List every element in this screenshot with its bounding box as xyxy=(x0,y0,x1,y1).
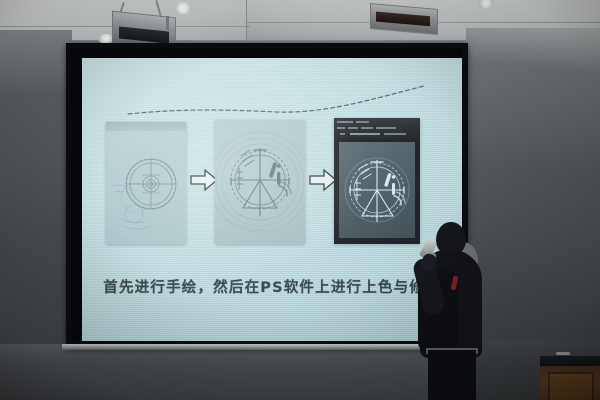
ps-toolbar-control xyxy=(376,127,396,129)
slide-content: 首先进行手绘，然后在PS软件上进行上色与修饰 xyxy=(82,58,462,341)
panel-hand-sketch-logo xyxy=(215,120,305,244)
photoshop-menu-bar xyxy=(334,118,420,139)
screen-bottom-rail xyxy=(62,344,472,350)
colored-logo-artwork xyxy=(339,142,415,238)
arrow-step-2-to-3-icon xyxy=(309,168,337,192)
panel-hand-sketch-gear xyxy=(106,122,186,244)
projection-screen-frame: 首先进行手绘，然后在PS软件上进行上色与修饰 xyxy=(66,43,468,348)
downlight-center-icon xyxy=(174,2,192,14)
ps-toolbar-control xyxy=(337,127,345,129)
panel-photoshop-window xyxy=(334,118,420,244)
cabinet-handle xyxy=(556,352,570,355)
cabinet-door-panel xyxy=(548,372,594,400)
presenter-silhouette xyxy=(418,222,488,400)
presenter-legs xyxy=(428,350,476,400)
ps-option-field xyxy=(384,133,406,135)
wall-below-screen xyxy=(0,344,470,400)
slide-caption: 首先进行手绘，然后在PS软件上进行上色与修饰 xyxy=(82,276,462,297)
projector-bracket xyxy=(166,16,169,30)
dashed-curve-decoration xyxy=(126,82,426,122)
air-vent-slot xyxy=(376,12,430,27)
logo-sketch-drawing xyxy=(215,120,305,244)
ps-menu-item xyxy=(337,121,353,123)
projection-screen-inner-bezel: 首先进行手绘，然后在PS软件上进行上色与修饰 xyxy=(71,48,463,341)
workflow-panels xyxy=(82,120,462,260)
photoshop-canvas xyxy=(339,142,415,238)
ps-toolbar-control xyxy=(348,127,358,129)
ps-option-field xyxy=(340,133,345,135)
lecture-room-photo: 首先进行手绘，然后在PS软件上进行上色与修饰 xyxy=(0,0,600,400)
ps-menu-item xyxy=(356,121,369,123)
projector-lens-slot xyxy=(119,26,169,43)
ps-toolbar-control xyxy=(361,127,373,129)
ceiling-seam-vertical xyxy=(246,0,247,42)
ps-option-field xyxy=(350,133,380,135)
cabinet-top-surface xyxy=(540,356,600,366)
gear-sketch-drawing xyxy=(106,122,186,244)
arrow-step-1-to-2-icon xyxy=(190,168,218,192)
